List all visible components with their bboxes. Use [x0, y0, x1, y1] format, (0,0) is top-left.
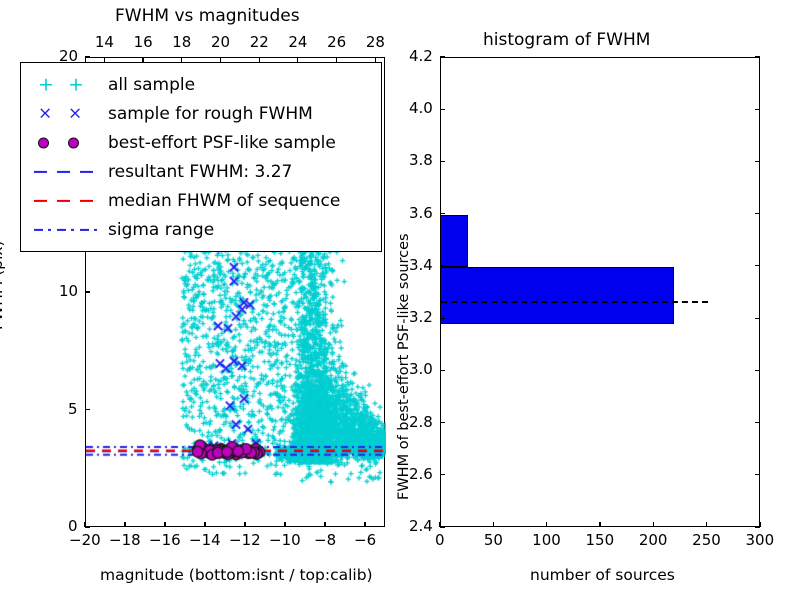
- right-y-tick-label: 3.2: [409, 308, 433, 326]
- right-y-tick-label: 3.0: [409, 360, 433, 378]
- right-x-tick-label: 100: [532, 531, 561, 549]
- dashed-line-icon: [30, 160, 108, 184]
- legend-item-label: sample for rough FWHM: [108, 104, 313, 124]
- right-y-tick-label: 3.8: [409, 151, 433, 169]
- right-x-tick-label: 300: [746, 531, 775, 549]
- dashdot-line-icon: [30, 218, 108, 242]
- left-x-top-tick-label: 14: [95, 33, 114, 51]
- left-x-top-tick-label: 18: [172, 33, 191, 51]
- histogram-bar: [441, 267, 674, 324]
- left-x-top-tick-label: 20: [211, 33, 230, 51]
- right-y-tick-label: 3.4: [409, 256, 433, 274]
- right-y-tick-label: 2.6: [409, 465, 433, 483]
- right-x-tick-label: 150: [586, 531, 615, 549]
- dashed-line-icon: [30, 189, 108, 213]
- left-x-tick-label: −18: [109, 531, 141, 549]
- legend: ++all sample××sample for rough FWHMbest-…: [20, 62, 382, 252]
- left-y-tick-label: 0: [68, 517, 78, 535]
- right-y-tick-label: 2.4: [409, 517, 433, 535]
- median-fwhm-line: [441, 301, 708, 303]
- legend-item: best-effort PSF-like sample: [21, 128, 381, 157]
- legend-item-label: sigma range: [108, 220, 214, 240]
- left-y-tick-label: 10: [59, 282, 78, 300]
- left-x-tick-label: −8: [314, 531, 336, 549]
- left-y-tick-label: 5: [68, 400, 78, 418]
- left-panel-title: FWHM vs magnitudes: [115, 6, 300, 26]
- right-panel-title: histogram of FWHM: [483, 30, 650, 50]
- left-x-tick-label: −10: [269, 531, 301, 549]
- left-x-top-tick-label: 16: [134, 33, 153, 51]
- right-y-tick-label: 4.0: [409, 99, 433, 117]
- right-y-tick-label: 2.8: [409, 413, 433, 431]
- right-x-tick-label: 50: [484, 531, 503, 549]
- left-x-tick-label: −14: [189, 531, 221, 549]
- left-x-tick-label: −12: [229, 531, 261, 549]
- dot-icon: [30, 131, 108, 155]
- legend-item-label: best-effort PSF-like sample: [108, 133, 336, 153]
- left-x-tick-label: −16: [149, 531, 181, 549]
- legend-item: sigma range: [21, 215, 381, 244]
- histogram-bar: [441, 215, 468, 267]
- right-y-tick-label: 3.6: [409, 204, 433, 222]
- legend-item-label: median FHWM of sequence: [108, 191, 340, 211]
- legend-item: ++all sample: [21, 70, 381, 99]
- right-x-tick-label: 0: [435, 531, 445, 549]
- histogram-plot-area: [440, 57, 760, 527]
- plus-icon: ++: [30, 73, 108, 97]
- legend-item-label: resultant FWHM: 3.27: [108, 162, 292, 182]
- legend-item: ××sample for rough FWHM: [21, 99, 381, 128]
- right-y-tick-label: 4.2: [409, 47, 433, 65]
- legend-item-label: all sample: [108, 75, 195, 95]
- legend-item: median FHWM of sequence: [21, 186, 381, 215]
- legend-item: resultant FWHM: 3.27: [21, 157, 381, 186]
- left-xaxis-label: magnitude (bottom:isnt / top:calib): [100, 566, 373, 584]
- right-x-tick-label: 200: [639, 531, 668, 549]
- left-x-top-tick-label: 22: [250, 33, 269, 51]
- right-x-tick-label: 250: [692, 531, 721, 549]
- left-x-top-tick-label: 28: [366, 33, 385, 51]
- cross-icon: ××: [30, 102, 108, 126]
- left-x-top-tick-label: 26: [327, 33, 346, 51]
- right-xaxis-label: number of sources: [530, 566, 675, 584]
- left-yaxis-label: FWHM (pix): [0, 240, 6, 330]
- left-x-top-tick-label: 24: [288, 33, 307, 51]
- left-x-tick-label: −6: [354, 531, 376, 549]
